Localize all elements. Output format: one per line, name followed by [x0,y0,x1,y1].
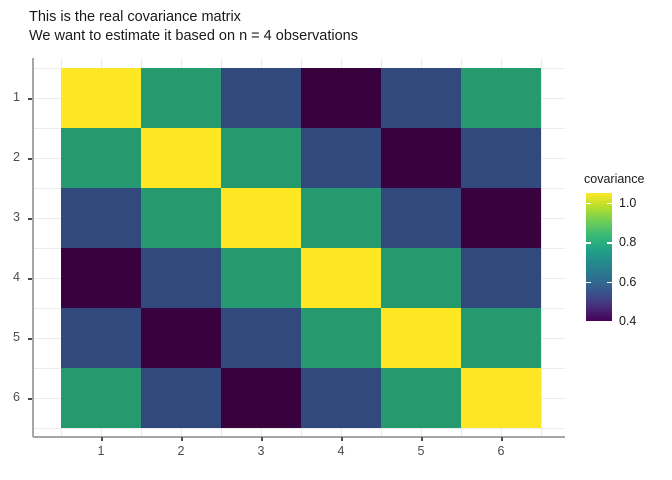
x-axis-tick [261,437,263,441]
heatmap-cell [301,308,381,368]
x-axis-tick [181,437,183,441]
legend-tick-mark [586,242,591,244]
heatmap-cell [221,248,301,308]
heatmap-cell [461,248,541,308]
plot-panel [33,58,565,437]
heatmap-cell [381,68,461,128]
heatmap-cell [61,308,141,368]
heatmap-cell [141,368,221,428]
y-axis-label: 2 [0,150,20,164]
heatmap-cell [461,188,541,248]
heatmap-grid [61,68,541,428]
legend-tick-label: 0.6 [619,275,636,289]
y-axis-label: 1 [0,90,20,104]
legend-colorbar [586,193,612,321]
legend-tick-label: 0.8 [619,235,636,249]
heatmap-cell [301,368,381,428]
heatmap-cell [61,248,141,308]
heatmap-cell [301,68,381,128]
y-axis-tick [28,398,32,400]
heatmap-cell [301,188,381,248]
y-axis-label: 4 [0,270,20,284]
heatmap-cell [61,188,141,248]
legend-tick-mark [586,203,591,205]
heatmap-cell [221,68,301,128]
heatmap-cell [141,128,221,188]
heatmap-cell [381,188,461,248]
y-axis-label: 3 [0,210,20,224]
legend-tick-mark [586,321,591,323]
x-axis-tick [501,437,503,441]
heatmap-cell [141,308,221,368]
heatmap-cell [221,368,301,428]
heatmap-cell [221,308,301,368]
heatmap-cell [61,368,141,428]
legend-tick-label: 0.4 [619,314,636,328]
heatmap-cell [61,68,141,128]
heatmap-cell [381,248,461,308]
heatmap-cell [61,128,141,188]
x-axis-label: 6 [489,444,513,458]
heatmap-cell [461,128,541,188]
chart-title-line-1: This is the real covariance matrix [29,8,549,27]
y-axis-tick [28,218,32,220]
x-axis-label: 1 [89,444,113,458]
legend: covariance 1.00.80.60.4 [584,172,644,193]
x-axis-label: 5 [409,444,433,458]
y-axis-label: 6 [0,390,20,404]
heatmap-cell [221,128,301,188]
legend-tick-mark [586,282,591,284]
chart-title-line-2: We want to estimate it based on n = 4 ob… [29,27,549,46]
x-axis-tick [421,437,423,441]
heatmap-cell [221,188,301,248]
y-axis-line [32,58,34,437]
legend-tick-mark [607,242,612,244]
y-axis-label: 5 [0,330,20,344]
chart-title: This is the real covariance matrix We wa… [29,8,549,46]
x-axis-line [33,436,565,438]
y-axis-tick [28,278,32,280]
heatmap-cell [301,128,381,188]
x-axis-label: 3 [249,444,273,458]
legend-title: covariance [584,172,644,186]
x-axis-label: 2 [169,444,193,458]
gridline-vertical [541,58,542,437]
y-axis-tick [28,158,32,160]
heatmap-cell [461,308,541,368]
heatmap-cell [381,308,461,368]
y-axis-tick [28,338,32,340]
heatmap-cell [141,68,221,128]
heatmap-cell [381,368,461,428]
y-axis-tick [28,98,32,100]
x-axis-label: 4 [329,444,353,458]
legend-tick-mark [607,203,612,205]
heatmap-cell [301,248,381,308]
heatmap-cell [141,188,221,248]
gridline-horizontal [33,428,565,429]
heatmap-cell [381,128,461,188]
heatmap-cell [461,68,541,128]
x-axis-tick [101,437,103,441]
heatmap-cell [461,368,541,428]
heatmap-cell [141,248,221,308]
legend-tick-mark [607,321,612,323]
x-axis-tick [341,437,343,441]
legend-tick-mark [607,282,612,284]
legend-tick-label: 1.0 [619,196,636,210]
